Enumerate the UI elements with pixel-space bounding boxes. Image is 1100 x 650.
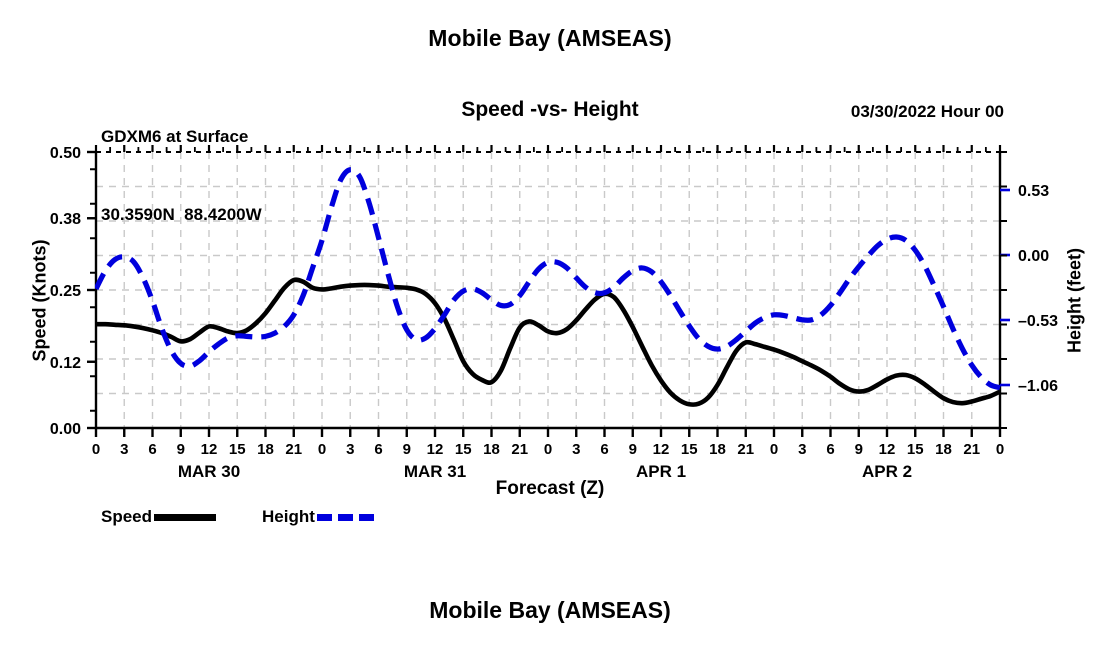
x-axis-hour-label: 12	[427, 441, 444, 458]
legend-swatch-height-dashed-line-icon	[317, 514, 379, 521]
x-axis-hour-label: 6	[600, 441, 608, 458]
y-axis-left-tick-label: 0.25	[50, 283, 81, 300]
legend-item-speed: Speed	[101, 507, 216, 527]
y-axis-left-tick-label: 0.12	[50, 355, 81, 372]
bottom-title: Mobile Bay (AMSEAS)	[0, 597, 1100, 624]
x-axis-hour-label: 12	[879, 441, 896, 458]
x-axis-hour-label: 9	[177, 441, 185, 458]
y-axis-left-tick-label: 0.38	[50, 211, 81, 228]
x-axis-hour-label: 6	[826, 441, 834, 458]
x-axis-day-label: MAR 31	[404, 462, 466, 481]
y-axis-right-tick-label: 0.53	[1018, 183, 1049, 200]
x-axis-hour-label: 21	[511, 441, 528, 458]
y-axis-right-ticks: 0.530.00–0.53–1.06	[1000, 152, 1058, 428]
chart-page: Mobile Bay (AMSEAS) GDXM6 at Surface 30.…	[0, 0, 1100, 650]
x-axis-hour-label: 3	[798, 441, 806, 458]
x-axis-hour-label: 6	[148, 441, 156, 458]
x-axis-hour-label: 0	[996, 441, 1004, 458]
x-axis-hour-label: 12	[201, 441, 218, 458]
x-axis-hour-label: 18	[935, 441, 952, 458]
x-axis-hour-label: 9	[629, 441, 637, 458]
x-axis-hour-label: 0	[544, 441, 552, 458]
y-axis-right-tick-label: –1.06	[1018, 378, 1058, 395]
plot-area: 0.500.380.250.120.00 0.530.00–0.53–1.06 …	[0, 0, 1100, 650]
x-axis-hour-label: 21	[285, 441, 302, 458]
x-axis-hour-label: 3	[572, 441, 580, 458]
x-axis-hour-label: 18	[709, 441, 726, 458]
x-axis-hour-label: 6	[374, 441, 382, 458]
y-axis-right-tick-label: 0.00	[1018, 248, 1049, 265]
legend-label-speed: Speed	[101, 507, 152, 527]
x-axis-hour-label: 15	[681, 441, 698, 458]
x-axis-hour-label: 0	[770, 441, 778, 458]
legend-label-height: Height	[262, 507, 315, 527]
x-axis-hour-label: 18	[257, 441, 274, 458]
x-axis-day-label: APR 2	[862, 462, 912, 481]
x-axis-hour-label: 21	[737, 441, 754, 458]
y-axis-left-tick-label: 0.50	[50, 145, 81, 162]
y-axis-right-tick-label: –0.53	[1018, 313, 1058, 330]
x-axis-hour-label: 3	[120, 441, 128, 458]
series-line-height	[96, 170, 1000, 388]
x-axis-hour-label: 9	[855, 441, 863, 458]
x-axis-hour-label: 18	[483, 441, 500, 458]
legend-item-height: Height	[262, 507, 379, 527]
legend-swatch-speed-line-icon	[154, 514, 216, 521]
gridlines	[96, 152, 1000, 428]
x-axis-hour-label: 9	[403, 441, 411, 458]
y-axis-left-tick-label: 0.00	[50, 421, 81, 438]
x-axis-hour-label: 15	[455, 441, 472, 458]
x-axis-day-label: APR 1	[636, 462, 686, 481]
x-axis-hour-label: 0	[92, 441, 100, 458]
x-axis-hour-label: 21	[963, 441, 980, 458]
x-axis-hour-label: 3	[346, 441, 354, 458]
x-axis-day-label: MAR 30	[178, 462, 240, 481]
chart-legend: Speed Height	[101, 507, 379, 527]
x-axis-hour-label: 12	[653, 441, 670, 458]
x-axis-hour-label: 15	[229, 441, 246, 458]
y-axis-left-ticks: 0.500.380.250.120.00	[50, 145, 96, 438]
x-axis-hour-label: 0	[318, 441, 326, 458]
x-axis-hour-label: 15	[907, 441, 924, 458]
